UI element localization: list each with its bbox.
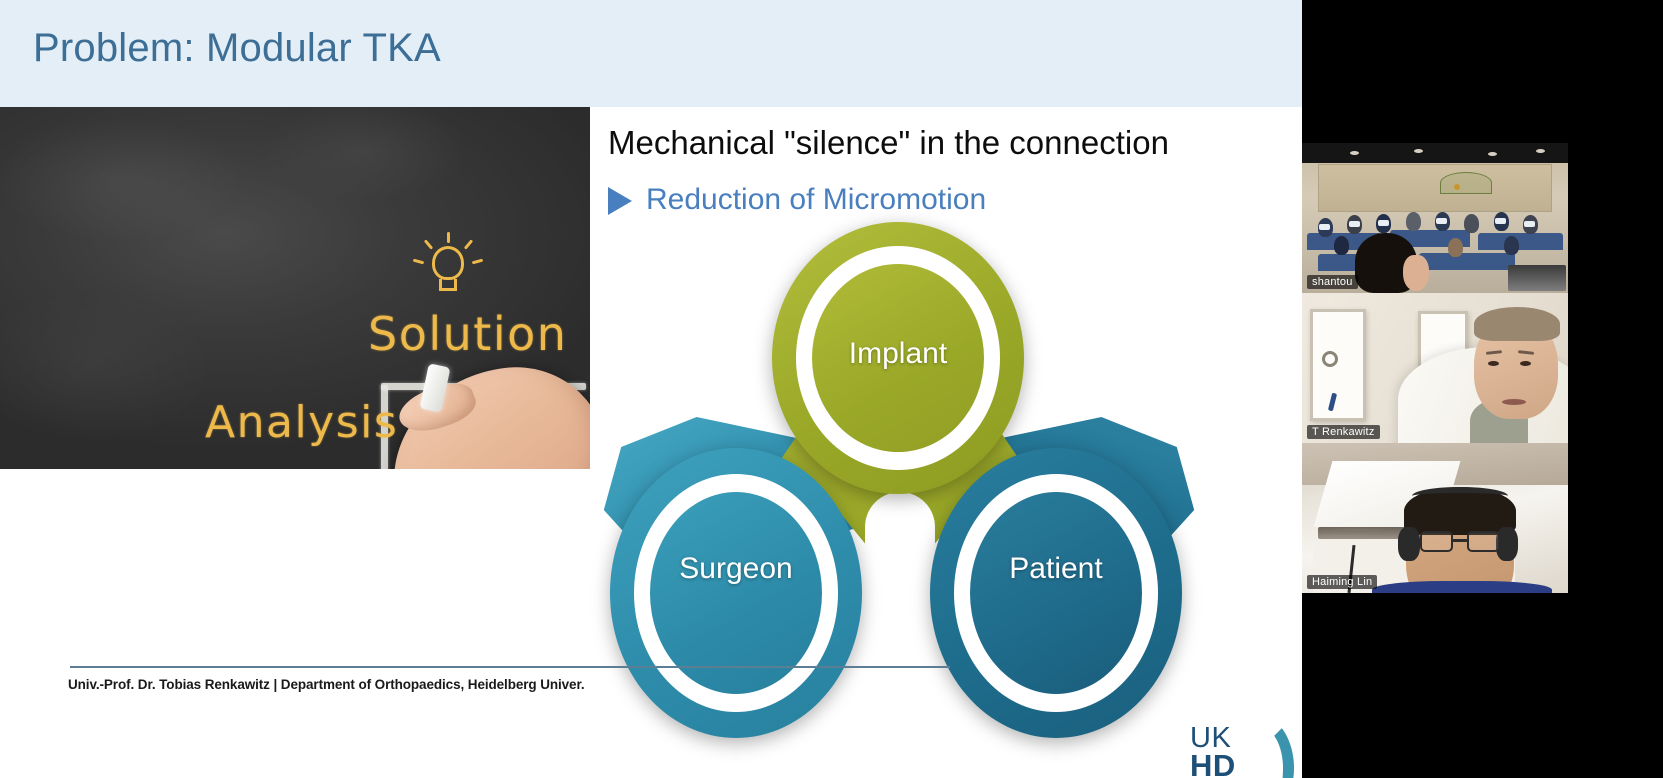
triangle-bullet-icon [608, 187, 632, 215]
footer-attribution: Univ.-Prof. Dr. Tobias Renkawitz | Depar… [68, 677, 585, 692]
participant-name-label: T Renkawitz [1307, 425, 1380, 439]
participant-name-label: Haiming Lin [1307, 575, 1377, 589]
logo-line-2: HD [1190, 750, 1236, 778]
participant-video-sidebar: shantou T Renkawitz [1302, 0, 1663, 778]
page-title: Problem: Modular TKA [33, 26, 441, 71]
lightbulb-icon [425, 242, 471, 300]
meeting-screen: Problem: Modular TKA Problem Analysis So… [0, 0, 1663, 778]
video-frame [1302, 443, 1568, 593]
three-circle-diagram: Implant Surgeon Patient [600, 222, 1220, 778]
diagram-node-label: Implant [812, 337, 984, 371]
shared-screen-slide[interactable]: Problem: Modular TKA Problem Analysis So… [0, 0, 1302, 778]
chalkboard-image: Problem Analysis Solution [0, 107, 590, 469]
participant-tile-shantou[interactable]: shantou [1302, 143, 1568, 293]
diagram-center-gap [865, 492, 935, 662]
chalk-label-analysis: Analysis [205, 397, 398, 448]
bullet-row: Reduction of Micromotion [608, 183, 986, 217]
slide-header-band: Problem: Modular TKA [0, 0, 1302, 107]
logo-swoosh-icon [1238, 716, 1294, 778]
participant-tile-t-renkawitz[interactable]: T Renkawitz [1302, 293, 1568, 443]
slide-headline: Mechanical "silence" in the connection [608, 124, 1288, 162]
bullet-text: Reduction of Micromotion [646, 183, 986, 217]
video-frame [1302, 143, 1568, 293]
diagram-node-label: Patient [970, 552, 1142, 586]
footer-divider [70, 666, 950, 668]
chalk-label-solution: Solution [368, 307, 567, 361]
slide-body: Problem Analysis Solution Mechanical "si… [0, 107, 1302, 778]
participant-tile-haiming-lin[interactable]: Haiming Lin [1302, 443, 1568, 593]
ukhd-logo: UK HD [1190, 722, 1290, 778]
diagram-node-label: Surgeon [650, 552, 822, 586]
participant-name-label: shantou [1307, 275, 1358, 289]
video-frame [1302, 293, 1568, 443]
